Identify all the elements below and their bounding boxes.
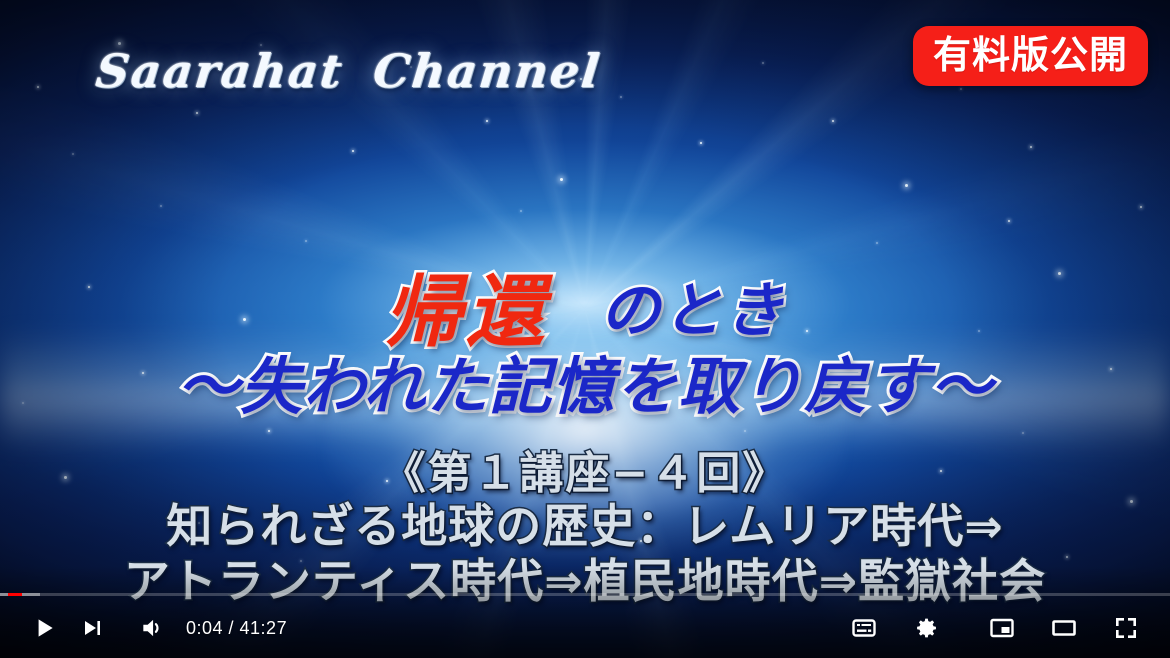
miniplayer-button[interactable] xyxy=(978,604,1026,652)
fullscreen-button[interactable] xyxy=(1102,604,1150,652)
subtitles-button[interactable] xyxy=(840,604,888,652)
next-video-button[interactable] xyxy=(68,604,116,652)
progress-bar[interactable] xyxy=(0,592,1170,597)
player-controls-bar: 0:04 / 41:27 xyxy=(0,598,1170,658)
channel-logo-word1: Saarahat xyxy=(93,44,346,98)
subtitles-cc-icon xyxy=(850,614,878,642)
play-icon xyxy=(31,615,57,641)
volume-button[interactable] xyxy=(128,604,176,652)
fullscreen-icon xyxy=(1113,615,1139,641)
play-button[interactable] xyxy=(20,604,68,652)
channel-logo: SaarahatChannel xyxy=(93,44,604,98)
gear-icon xyxy=(913,615,939,641)
time-display: 0:04 / 41:27 xyxy=(186,618,287,639)
next-track-icon xyxy=(80,616,104,640)
progress-track[interactable] xyxy=(0,593,1170,596)
theater-mode-icon xyxy=(1050,614,1078,642)
right-controls-group xyxy=(840,604,1150,652)
theater-mode-button[interactable] xyxy=(1040,604,1088,652)
miniplayer-icon xyxy=(988,614,1016,642)
video-title-subtitle: 〜失われた記憶を取り戻す〜 xyxy=(0,336,1170,426)
video-player: SaarahatChannel 有料版公開 帰還のとき 〜失われた記憶を取り戻す… xyxy=(0,0,1170,658)
volume-icon xyxy=(139,615,165,641)
channel-logo-word2: Channel xyxy=(371,44,604,98)
video-surface[interactable]: SaarahatChannel 有料版公開 帰還のとき 〜失われた記憶を取り戻す… xyxy=(0,0,1170,658)
settings-button[interactable] xyxy=(902,604,950,652)
status-badge: 有料版公開 xyxy=(913,26,1148,86)
progress-played xyxy=(8,593,22,596)
